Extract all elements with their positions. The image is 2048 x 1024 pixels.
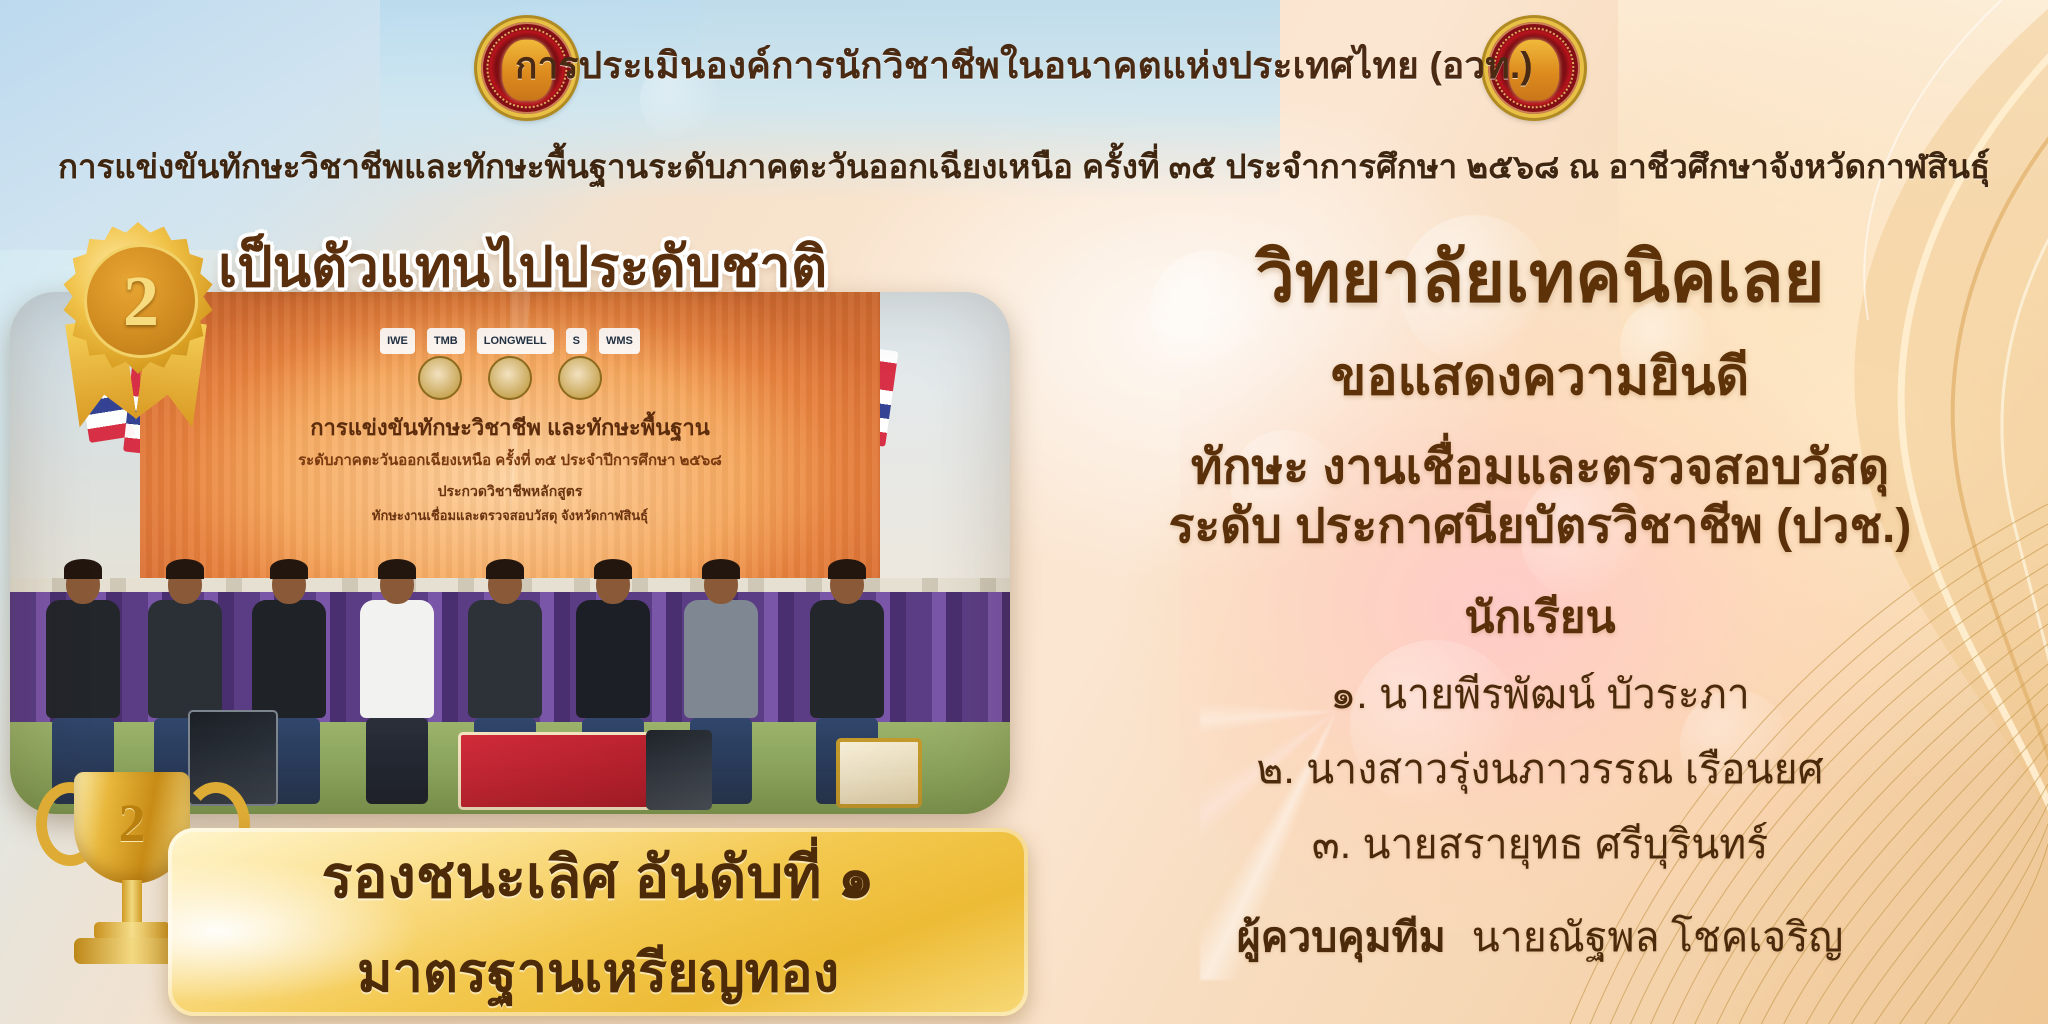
badge-rank-number: 2 [123,265,159,337]
coach-label: ผู้ควบคุมทีม [1237,914,1446,960]
student-name-item: ๑. นายพีรพัฒน์ บัวระภา [1090,662,1990,727]
congratulations-text: ขอแสดงความยินดี [1090,334,1990,417]
right-text-column: วิทยาลัยเทคนิคเลย ขอแสดงความยินดี ทักษะ … [1090,238,1990,970]
student-name-item: ๓. นายสรายุทธ ศรีบุรินทร์ [1090,812,1990,877]
national-representative-text: เป็นตัวแทนไปประดับชาติ [218,222,827,311]
poster-canvas: การประเมินองค์การนักวิชาชีพในอนาคตแห่งปร… [0,0,2048,1024]
award-result-banner: รองชนะเลิศ อันดับที่ ๑ มาตรฐานเหรียญทอง [168,828,1028,1016]
header-line-2: การแข่งขันทักษะวิชาชีพและทักษะพื้นฐานระด… [0,140,2048,193]
education-level-text: ระดับ ประกาศนียบัตรวิชาชีพ (ปวช.) [1090,498,1990,557]
badge-inner-disc: 2 [84,244,198,358]
award-medal-standard-text: มาตรฐานเหรียญทอง [357,929,839,1015]
skill-category-text: ทักษะ งานเชื่อมและตรวจสอบวัสดุ [1090,439,1990,498]
header: การประเมินองค์การนักวิชาชีพในอนาคตแห่งปร… [0,0,2048,200]
student-name-item: ๒. นางสาวรุ่งนภาวรรณ เรือนยศ [1090,737,1990,802]
trophy-stem [122,880,142,924]
rank-ribbon-badge: 2 [38,212,238,427]
students-label: นักเรียน [1090,582,1990,652]
award-rank-text: รองชนะเลิศ อันดับที่ ๑ [322,830,875,923]
college-name: วิทยาลัยเทคนิคเลย [1090,238,1990,316]
team-coach-row: ผู้ควบคุมทีมนายณัฐพล โชคเจริญ [1090,905,1990,970]
coach-name: นายณัฐพล โชคเจริญ [1472,914,1844,960]
header-line-1: การประเมินองค์การนักวิชาชีพในอนาคตแห่งปร… [0,36,2048,95]
